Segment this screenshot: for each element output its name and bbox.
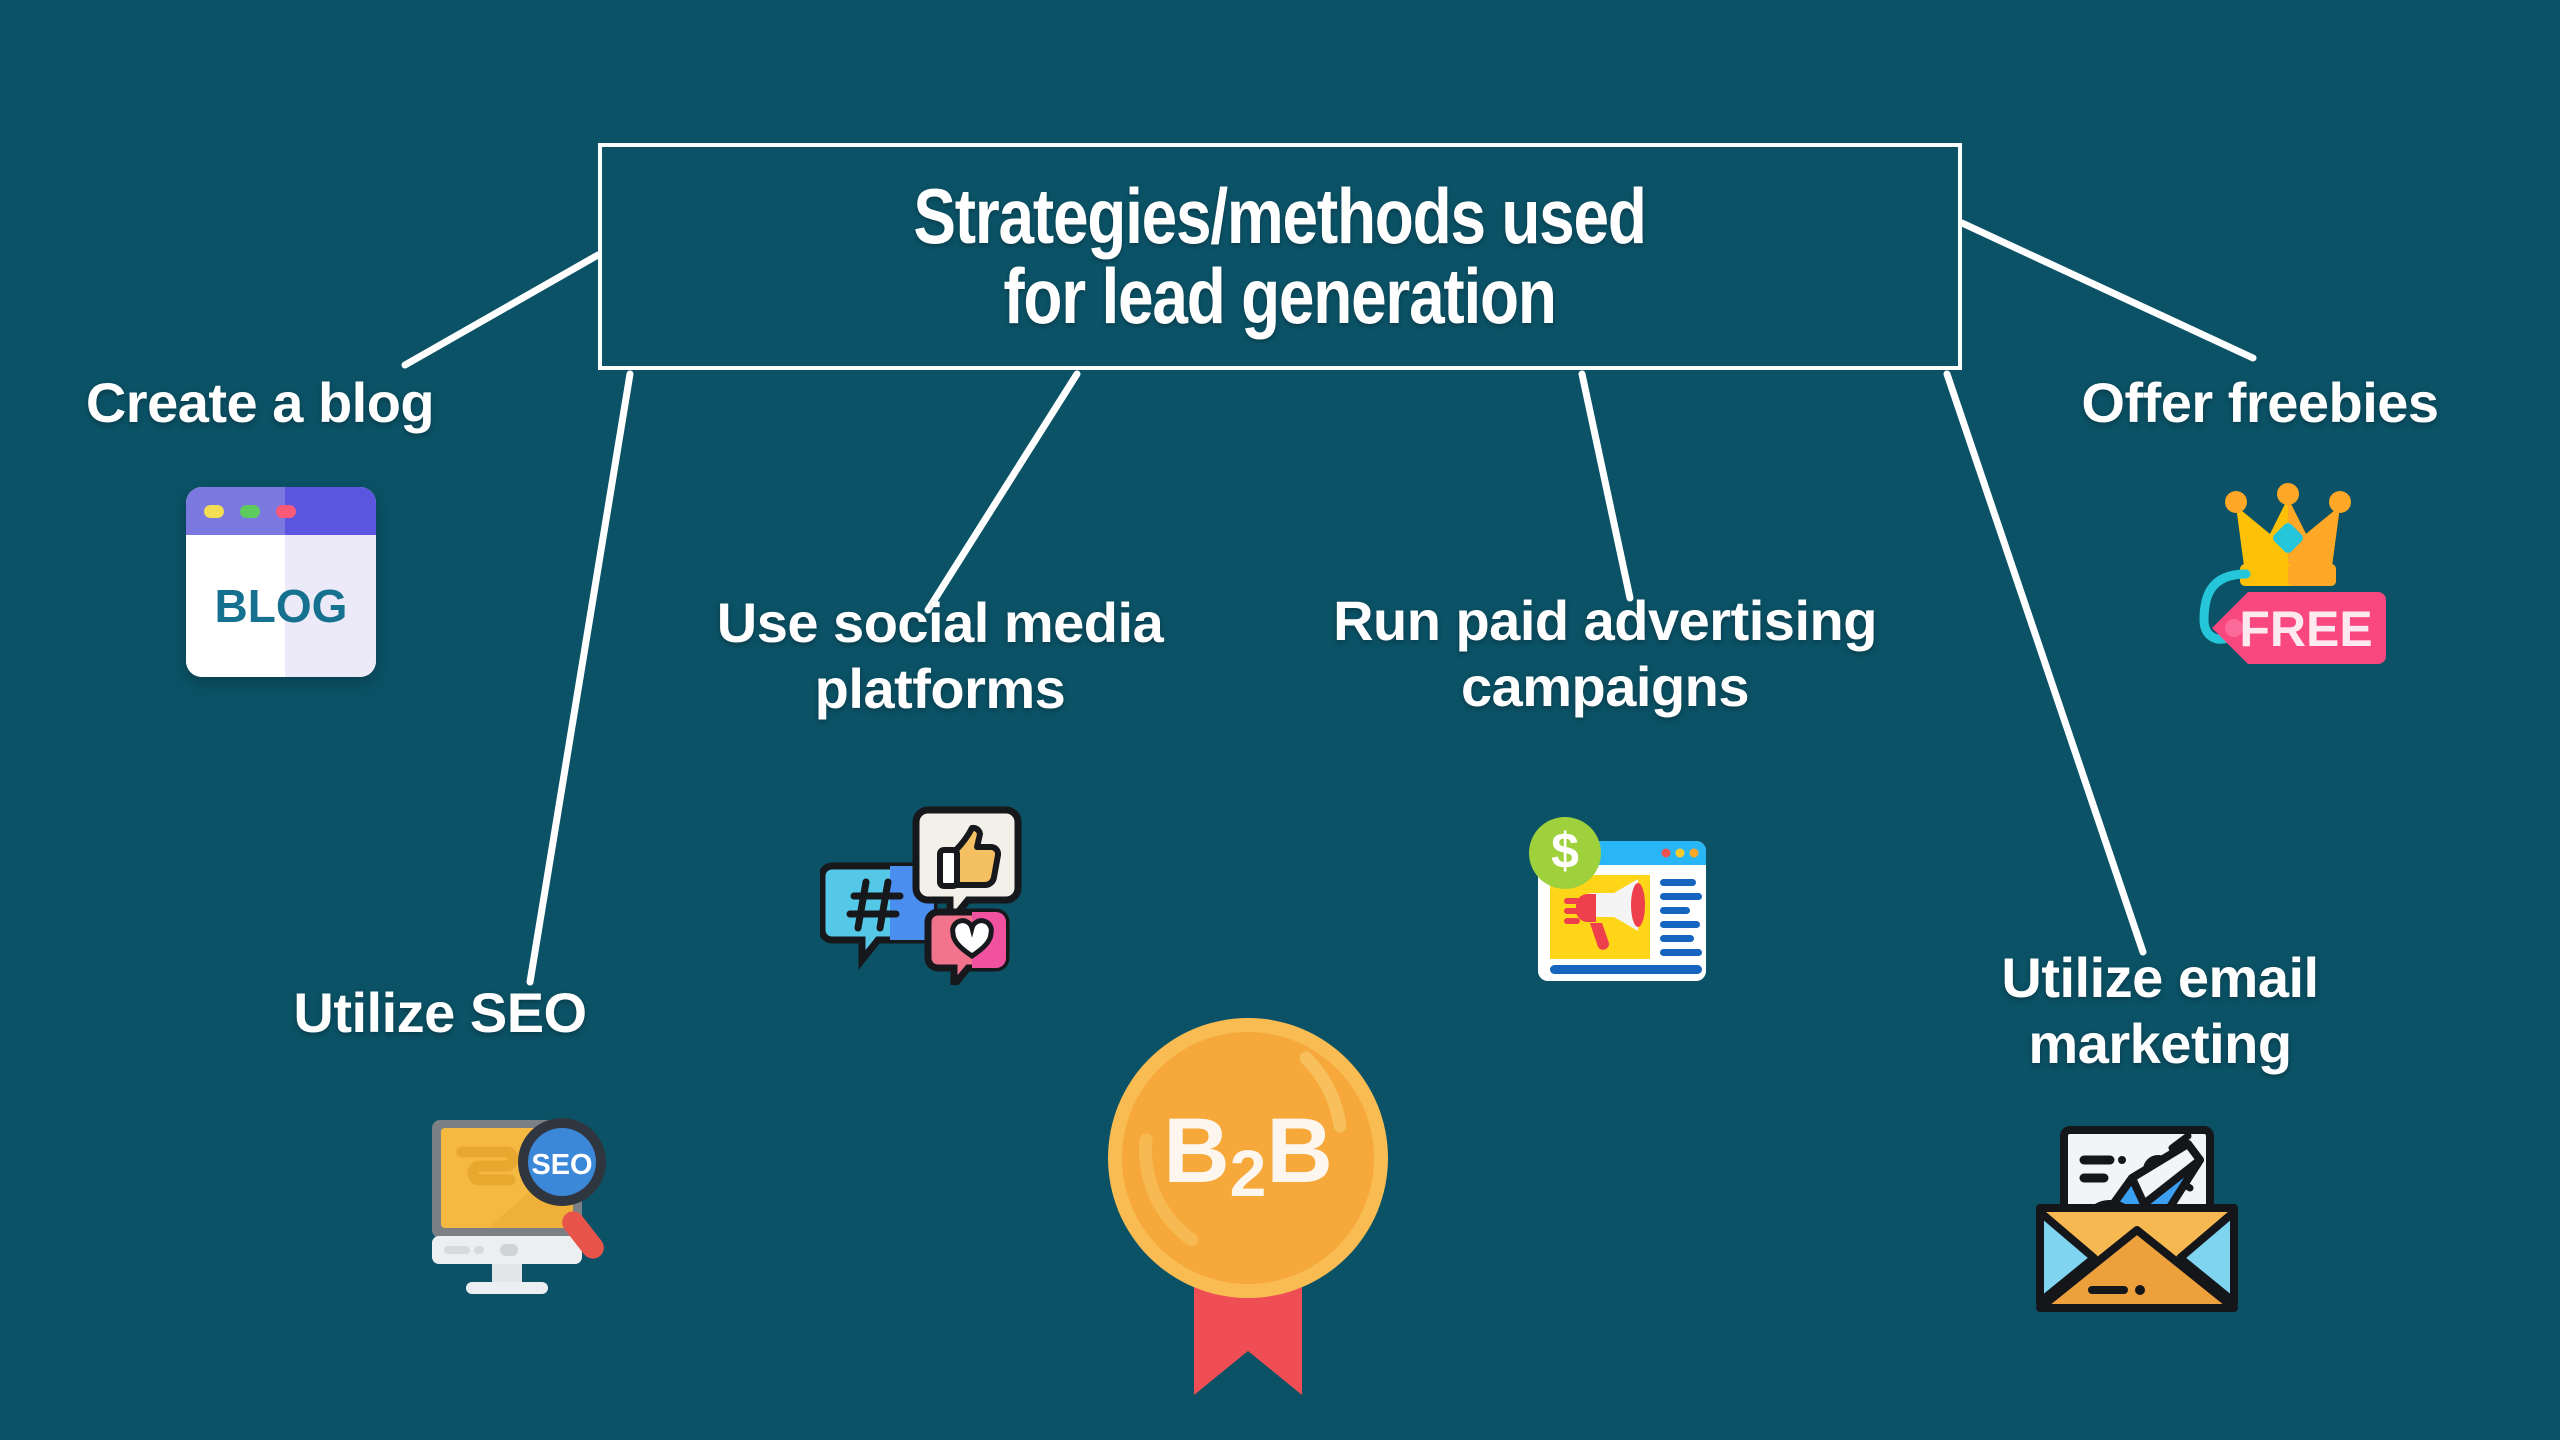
label-utilize-seo: Utilize SEO xyxy=(230,980,650,1046)
blog-window-body: BLOG xyxy=(186,535,376,677)
b2b-badge: B2B xyxy=(1108,1010,1388,1400)
label-use-social-media-platforms: Use social media platforms xyxy=(620,590,1260,722)
dollar-sign-icon: $ xyxy=(1551,823,1579,879)
infographic-canvas: Strategies/methods used for lead generat… xyxy=(0,0,2560,1440)
blog-titlebar xyxy=(186,487,376,535)
connector-run-paid-ads xyxy=(1582,374,1630,598)
blog-dot-yellow xyxy=(204,505,224,518)
page-title: Strategies/methods used for lead generat… xyxy=(914,177,1646,336)
social-media-bubbles-icon xyxy=(820,800,1030,985)
email-megaphone-icon xyxy=(2022,1112,2252,1317)
label-create-a-blog: Create a blog xyxy=(40,370,480,436)
central-title-box: Strategies/methods used for lead generat… xyxy=(598,143,1962,370)
blog-dot-red xyxy=(276,505,296,518)
free-tag-text: FREE xyxy=(2239,601,2372,657)
connector-offer-freebies xyxy=(1962,223,2253,358)
paid-ads-browser-icon: $ xyxy=(1520,805,1710,990)
connector-utilize-email xyxy=(1947,374,2143,952)
seo-monitor-icon: SEO xyxy=(410,1108,630,1298)
free-crown-tag-icon: FREE xyxy=(2178,470,2398,670)
seo-lens-text: SEO xyxy=(531,1149,592,1181)
blog-word-text: BLOG xyxy=(215,579,348,633)
label-run-paid-advertising-campaigns: Run paid advertising campaigns xyxy=(1260,588,1950,720)
label-offer-freebies: Offer freebies xyxy=(2020,370,2500,436)
blog-window-icon: BLOG xyxy=(186,487,376,677)
connector-create-a-blog xyxy=(405,255,598,365)
connector-utilize-seo xyxy=(530,374,630,982)
connector-use-social-media xyxy=(928,374,1077,610)
label-utilize-email-marketing: Utilize email marketing xyxy=(1900,945,2420,1077)
blog-dot-green xyxy=(240,505,260,518)
